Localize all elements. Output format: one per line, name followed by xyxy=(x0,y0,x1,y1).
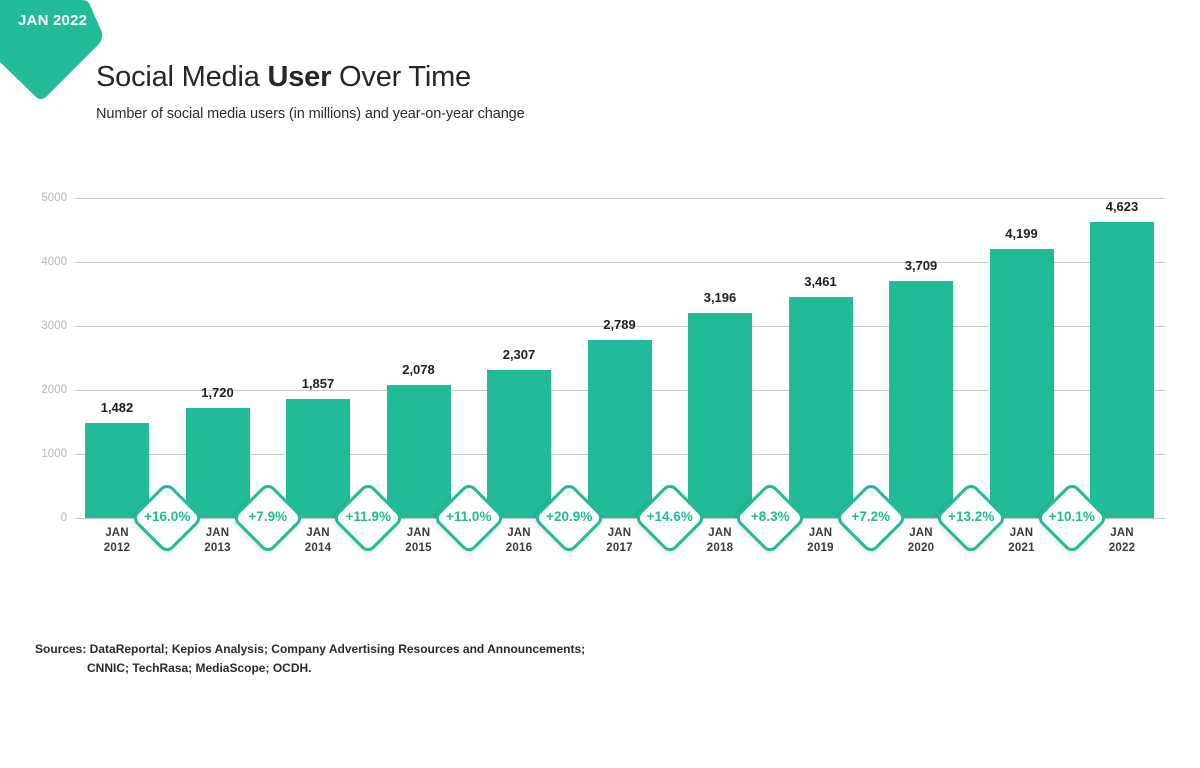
sources-note: Sources: DataReportal; Kepios Analysis; … xyxy=(35,640,735,678)
growth-diamond-label: +16.0% xyxy=(112,509,222,524)
bar[interactable] xyxy=(688,313,752,518)
date-badge-text: JAN 2022 xyxy=(18,12,87,31)
bar-value-label: 4,199 xyxy=(972,226,1072,241)
bar-column[interactable]: 1,482 xyxy=(85,198,149,518)
bar[interactable] xyxy=(889,281,953,518)
growth-diamond-label: +20.9% xyxy=(514,509,624,524)
y-axis-tick-label: 0 xyxy=(7,512,67,524)
y-axis-tick-label: 3000 xyxy=(7,320,67,332)
bar-value-label: 2,307 xyxy=(469,347,569,362)
x-axis-label-line: 2014 xyxy=(270,541,366,556)
bar-value-label: 1,857 xyxy=(268,376,368,391)
bar-value-label: 3,196 xyxy=(670,290,770,305)
x-axis-labels: JAN2012JAN2013JAN2014JAN2015JAN2016JAN20… xyxy=(75,526,1165,566)
y-axis-tick-label: 1000 xyxy=(7,448,67,460)
title-part-2: Over Time xyxy=(331,61,471,93)
growth-diamond-label: +10.1% xyxy=(1017,509,1127,524)
x-axis-label-line: 2020 xyxy=(873,541,969,556)
page-subtitle: Number of social media users (in million… xyxy=(96,106,525,122)
bar-column[interactable]: 3,196 xyxy=(688,198,752,518)
growth-diamond-label: +11.9% xyxy=(313,509,423,524)
bar-value-label: 3,461 xyxy=(771,274,871,289)
x-axis-label-line: 2012 xyxy=(69,541,165,556)
bar[interactable] xyxy=(186,408,250,518)
bar-value-label: 2,078 xyxy=(369,362,469,377)
title-part-1: Social Media xyxy=(96,61,268,93)
bar[interactable] xyxy=(85,423,149,518)
bar-column[interactable]: 1,720 xyxy=(186,198,250,518)
y-axis-tick-label: 5000 xyxy=(7,192,67,204)
x-axis-label-line: 2022 xyxy=(1074,541,1170,556)
bar-value-label: 1,482 xyxy=(67,400,167,415)
bar-column[interactable]: 1,857 xyxy=(286,198,350,518)
x-axis-label-line: 2013 xyxy=(170,541,266,556)
bar-column[interactable]: 2,789 xyxy=(588,198,652,518)
sources-line-1: Sources: DataReportal; Kepios Analysis; … xyxy=(35,642,585,656)
x-axis-label-line: 2019 xyxy=(773,541,869,556)
bar-value-label: 1,720 xyxy=(168,385,268,400)
chart-plot-area: 010002000300040005000 1,4821,7201,8572,0… xyxy=(75,198,1165,518)
bar-column[interactable]: 3,709 xyxy=(889,198,953,518)
bar[interactable] xyxy=(286,399,350,518)
bar[interactable] xyxy=(588,340,652,518)
bar-column[interactable]: 3,461 xyxy=(789,198,853,518)
x-axis-label-line: 2016 xyxy=(471,541,567,556)
bar-column[interactable]: 2,078 xyxy=(387,198,451,518)
bar-column[interactable]: 4,199 xyxy=(990,198,1054,518)
x-axis-label-line: 2017 xyxy=(572,541,668,556)
growth-diamond-label: +14.6% xyxy=(615,509,725,524)
bar-value-label: 2,789 xyxy=(570,317,670,332)
growth-diamond-label: +11.0% xyxy=(414,509,524,524)
bar[interactable] xyxy=(387,385,451,518)
growth-diamond-label: +7.2% xyxy=(816,509,926,524)
bar-column[interactable]: 4,623 xyxy=(1090,198,1154,518)
date-badge: JAN 2022 xyxy=(0,0,108,104)
date-badge-year: 2022 xyxy=(53,12,87,29)
y-axis-tick-label: 2000 xyxy=(7,384,67,396)
bar-series: 1,4821,7201,8572,0782,3072,7893,1963,461… xyxy=(75,198,1165,518)
growth-diamond-label: +7.9% xyxy=(213,509,323,524)
bar[interactable] xyxy=(789,297,853,519)
bar-column[interactable]: 2,307 xyxy=(487,198,551,518)
page-title: Social Media User Over Time xyxy=(96,62,525,94)
x-axis-label-line: 2021 xyxy=(974,541,1070,556)
growth-diamond-label: +8.3% xyxy=(715,509,825,524)
x-axis-label-line: 2015 xyxy=(371,541,467,556)
growth-diamond-label: +13.2% xyxy=(916,509,1026,524)
y-axis-tick-label: 4000 xyxy=(7,256,67,268)
title-accent-word: User xyxy=(268,61,332,93)
date-badge-month: JAN xyxy=(18,12,49,29)
x-axis-label-line: 2018 xyxy=(672,541,768,556)
bar[interactable] xyxy=(1090,222,1154,518)
sources-line-2: CNNIC; TechRasa; MediaScope; OCDH. xyxy=(35,659,735,678)
bar-value-label: 3,709 xyxy=(871,258,971,273)
bar[interactable] xyxy=(990,249,1054,518)
header: Social Media User Over Time Number of so… xyxy=(96,62,525,122)
bar[interactable] xyxy=(487,370,551,518)
bar-value-label: 4,623 xyxy=(1072,199,1172,214)
